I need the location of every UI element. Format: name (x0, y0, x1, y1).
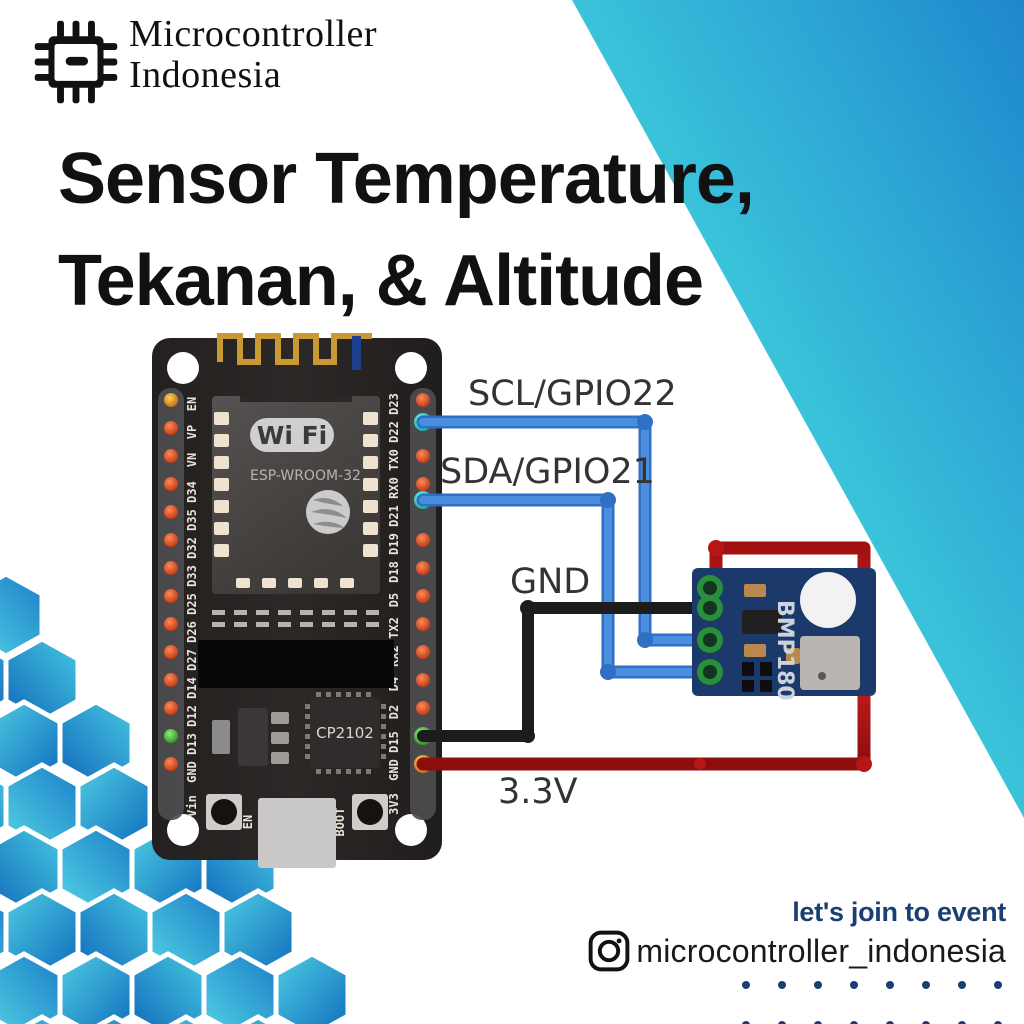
wire-label-gnd: GND (510, 562, 590, 602)
headline-line-2: Tekanan, & Altitude (58, 230, 938, 332)
pin-label-TX2: TX2 (387, 617, 401, 639)
pin-label-D13: D13 (185, 733, 199, 755)
pin-label-D32: D32 (185, 537, 199, 559)
bmp180-sensor: BMP180 (692, 568, 876, 701)
pin-label-RX0: RX0 (387, 477, 401, 499)
pin-label-D14: D14 (185, 677, 199, 699)
brand-line-1: Microcontroller (129, 14, 377, 55)
instagram-icon[interactable] (588, 930, 630, 972)
pin-label-D12: D12 (185, 705, 199, 727)
wire-label-scl: SCL/GPIO22 (468, 374, 677, 414)
footer-contact: let's join to event microcontroller_indo… (588, 897, 1006, 972)
page-title: Sensor Temperature, Tekanan, & Altitude (58, 128, 938, 332)
pin-label-GND-R: GND (387, 759, 401, 781)
en-button-label: EN (241, 815, 255, 829)
pin-label-D19: D19 (387, 533, 401, 555)
pin-label-EN: EN (185, 397, 199, 411)
wire-label-sda: SDA/GPIO21 (440, 452, 655, 492)
cp2102-chip: CP2102 (305, 692, 386, 774)
pin-label-VP: VP (185, 425, 199, 439)
pin-label-3V3: 3V3 (387, 793, 401, 815)
pin-label-D34: D34 (185, 481, 199, 503)
svg-text:CP2102: CP2102 (316, 724, 374, 742)
wire-label-3v3: 3.3V (498, 772, 578, 812)
en-button[interactable] (206, 794, 242, 830)
brand-line-2: Indonesia (129, 55, 377, 96)
pin-label-D23: D23 (387, 393, 401, 415)
brand-name: Microcontroller Indonesia (129, 14, 377, 96)
dot-decoration-row-1 (742, 981, 1002, 989)
pin-label-D26: D26 (185, 621, 199, 643)
pin-label-VN: VN (185, 453, 199, 467)
pin-label-D22: D22 (387, 421, 401, 443)
pin-label-D27: D27 (185, 649, 199, 671)
pin-label-Vin: Vin (185, 795, 199, 817)
sensor-label: BMP180 (772, 600, 797, 701)
pin-label-D25: D25 (185, 593, 199, 615)
instagram-handle[interactable]: microcontroller_indonesia (636, 933, 1006, 970)
wifi-logo: Wi Fi (250, 418, 334, 452)
module-label: ESP-WROOM-32 (250, 468, 361, 484)
pin-label-GND-L: GND (185, 761, 199, 783)
pin-label-D21: D21 (387, 505, 401, 527)
boot-button[interactable] (352, 794, 388, 830)
esp32-board: EN VP VN D34 D35 D32 D33 D25 D26 D27 D14… (152, 336, 442, 868)
poster-canvas: Microcontroller Indonesia Sensor Tempera… (0, 0, 1024, 1024)
pin-label-D18: D18 (387, 561, 401, 583)
wiring-diagram: EN VP VN D34 D35 D32 D33 D25 D26 D27 D14… (0, 300, 1024, 900)
headline-line-1: Sensor Temperature, (58, 128, 938, 230)
usb-connector (258, 798, 336, 868)
pin-label-D33: D33 (185, 565, 199, 587)
pin-label-D2: D2 (387, 705, 401, 719)
pin-label-D15: D15 (387, 731, 401, 753)
brand-logo-block: Microcontroller Indonesia (33, 14, 377, 106)
pin-label-TX0: TX0 (387, 449, 401, 471)
svg-text:Wi Fi: Wi Fi (257, 421, 328, 450)
microchip-icon (33, 18, 119, 106)
espressif-logo (306, 490, 350, 534)
pin-label-D35: D35 (185, 509, 199, 531)
event-tagline: let's join to event (588, 897, 1006, 928)
pin-label-D5: D5 (387, 593, 401, 607)
